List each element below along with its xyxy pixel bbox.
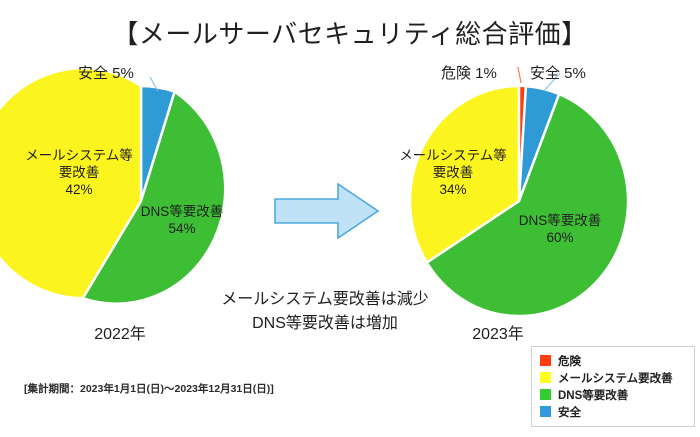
- callout-label-safe-2022: 安全 5%: [78, 62, 134, 83]
- legend-label-danger: 危険: [558, 353, 581, 369]
- legend-label-safe: 安全: [558, 404, 581, 420]
- leader-line-danger-2023: [518, 67, 521, 83]
- pie-2022-svg: [30, 85, 252, 317]
- slice-label-mail-2023-pct: 34%: [394, 181, 512, 198]
- legend-swatch-dns-icon: [540, 389, 551, 400]
- legend-swatch-mail-system-icon: [540, 372, 551, 383]
- callout-label-danger-2023: 危険 1%: [441, 62, 497, 83]
- slice-label-dns-2022-pct: 54%: [122, 220, 242, 237]
- year-caption-2023: 2023年: [438, 320, 558, 344]
- page-title: 【メールサーバセキュリティ総合評価】: [0, 14, 700, 51]
- pie-2023-svg: [408, 85, 630, 317]
- legend-label-dns: DNS等要改善: [558, 387, 628, 403]
- slice-label-mail-2022-line2: 要改善: [20, 164, 138, 181]
- footnote-period: [集計期間：2023年1月1日(日)～2023年12月31日(日)]: [24, 381, 274, 396]
- legend-item-safe[interactable]: 安全: [540, 403, 688, 420]
- callout-label-safe-2023: 安全 5%: [530, 62, 586, 83]
- chart-canvas: 【メールサーバセキュリティ総合評価】 安全 5% DNS等要改善 54% メール…: [0, 0, 700, 437]
- slice-label-mail-2022: メールシステム等 要改善 42%: [20, 147, 138, 198]
- slice-label-mail-2022-pct: 42%: [20, 181, 138, 198]
- legend-swatch-danger-icon: [540, 355, 551, 366]
- slice-label-mail-2022-line1: メールシステム等: [20, 147, 138, 164]
- slice-label-mail-2023-line1: メールシステム等: [394, 147, 512, 164]
- slice-label-mail-2023-line2: 要改善: [394, 164, 512, 181]
- right-arrow-icon: [272, 180, 382, 242]
- legend: 危険 メールシステム要改善 DNS等要改善 安全: [531, 346, 695, 427]
- slice-label-dns-2022: DNS等要改善 54%: [122, 203, 242, 237]
- slice-label-mail-2023: メールシステム等 要改善 34%: [394, 147, 512, 198]
- slice-label-dns-2023-name: DNS等要改善: [500, 212, 620, 229]
- pie-chart-2023: [408, 85, 630, 317]
- legend-label-mail-system: メールシステム要改善: [558, 370, 673, 386]
- slice-label-dns-2023-pct: 60%: [500, 229, 620, 246]
- legend-swatch-safe-icon: [540, 406, 551, 417]
- slice-label-dns-2023: DNS等要改善 60%: [500, 212, 620, 246]
- pie-chart-2022: [30, 85, 252, 317]
- slice-label-dns-2022-name: DNS等要改善: [122, 203, 242, 220]
- year-caption-2022: 2022年: [60, 320, 180, 344]
- legend-item-dns[interactable]: DNS等要改善: [540, 386, 688, 403]
- legend-item-mail-system[interactable]: メールシステム要改善: [540, 369, 688, 386]
- legend-item-danger[interactable]: 危険: [540, 352, 688, 369]
